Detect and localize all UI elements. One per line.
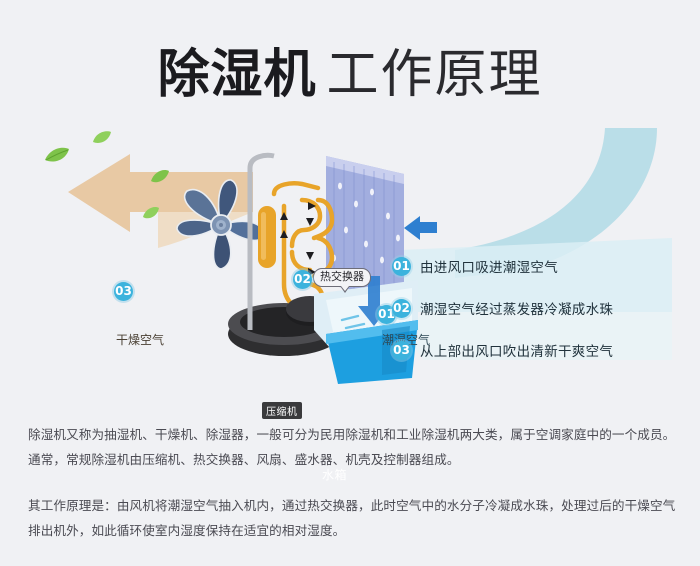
paragraph-1: 除湿机又称为抽湿机、干燥机、除湿器，一般可分为民用除湿机和工业除湿机两大类，属于… (28, 422, 676, 472)
paragraph-2: 其工作原理是：由风机将潮湿空气抽入机内，通过热交换器，此时空气中的水分子冷凝成水… (28, 493, 676, 543)
step-text: 从上部出风口吹出清新干爽空气 (420, 340, 613, 360)
step-text: 潮湿空气经过蒸发器冷凝成水珠 (420, 298, 613, 318)
diagram-badge-02: 02 (293, 270, 312, 289)
heat-exchanger-callout: 热交换器 (313, 268, 371, 287)
step-number-badge: 02 (392, 299, 411, 318)
leaf-icon (142, 206, 160, 220)
page-title-primary: 除湿机 (157, 45, 316, 105)
heat-exchanger-label: 热交换器 (320, 270, 364, 283)
paragraph-1-line-2: 通常，常规除湿机由压缩机、热交换器、风扇、盛水器、机壳及控制器组成。 (28, 447, 676, 472)
diagram-badge-03: 03 (114, 282, 133, 301)
page-title: 除湿机工作原理 (0, 32, 700, 107)
paragraph-1-line-1: 除湿机又称为抽湿机、干燥机、除湿器，一般可分为民用除湿机和工业除湿机两大类，属于… (28, 422, 676, 447)
paragraph-2-line-1: 其工作原理是：由风机将潮湿空气抽入机内，通过热交换器，此时空气中的水分子冷凝成水… (28, 493, 676, 518)
paragraph-2-line-2: 排出机外，如此循环使室内湿度保持在适宜的相对湿度。 (28, 518, 676, 543)
leaf-icon (92, 130, 112, 145)
step-number-badge: 03 (392, 341, 411, 360)
step-item-02: 02 潮湿空气经过蒸发器冷凝成水珠 (392, 298, 692, 318)
step-list: 01 由进风口吸进潮湿空气 02 潮湿空气经过蒸发器冷凝成水珠 03 从上部出风… (392, 256, 692, 382)
step-item-03: 03 从上部出风口吹出清新干爽空气 (392, 340, 692, 360)
step-text: 由进风口吸进潮湿空气 (420, 256, 558, 276)
step-number-badge: 01 (392, 257, 411, 276)
leaf-icon (44, 146, 70, 164)
compressor-tag: 压缩机 (262, 402, 302, 419)
page-title-secondary: 工作原理 (327, 45, 543, 105)
body-copy: 除湿机又称为抽湿机、干燥机、除湿器，一般可分为民用除湿机和工业除湿机两大类，属于… (28, 422, 676, 543)
dry-air-label: 干燥空气 (116, 331, 164, 348)
leaf-icon (150, 168, 170, 184)
step-item-01: 01 由进风口吸进潮湿空气 (392, 256, 692, 276)
infographic-canvas: 除湿机工作原理 (0, 0, 700, 566)
